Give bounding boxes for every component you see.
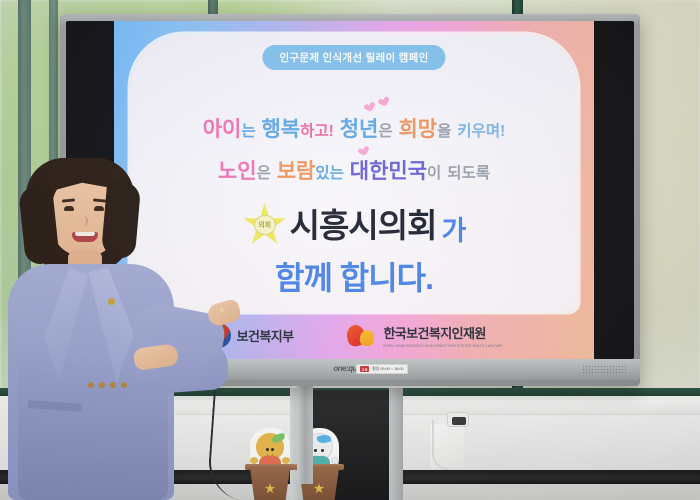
eye <box>64 206 74 211</box>
lapel-pin <box>108 298 115 305</box>
slogan-line-1: 아이는 행복하고! 청년은 희망을 키우며! <box>114 113 594 143</box>
logo-kohi: 한국보건복지인재원 KOREA HUMAN RESOURCE DEVELOPME… <box>347 323 502 347</box>
stand-column-right <box>389 388 403 500</box>
presenter <box>0 160 227 500</box>
slogan-token: 이 <box>427 161 441 183</box>
logo-sublabel: KOREA HUMAN RESOURCE DEVELOPMENT INSTITU… <box>383 343 502 348</box>
slogan-token: 행복 <box>261 113 300 143</box>
slogan-token: 희망 <box>398 113 437 143</box>
emblem-inner-label: 의회 <box>254 215 276 235</box>
list-item <box>247 428 293 500</box>
mascot-arm <box>282 457 290 464</box>
eye-icon <box>314 449 317 452</box>
slogan-token: 하고! <box>300 119 334 141</box>
mascot-arm <box>331 457 339 464</box>
schedule-text: 평일 09:00 ~ 18:00 <box>372 367 403 372</box>
slogan-token: 은 <box>378 119 392 141</box>
logo-label: 보건복지부 <box>237 326 294 345</box>
drop-shape <box>359 329 375 347</box>
eye <box>94 206 104 211</box>
star-emblem-icon <box>314 483 325 494</box>
council-star-emblem-icon: 의회 <box>243 203 287 247</box>
slogan-token: 는 <box>241 119 255 141</box>
hair-tuft-icon <box>316 434 331 445</box>
campaign-badge: 인구문제 인식개선 릴레이 캠페인 <box>262 45 445 70</box>
logo-label: 한국보건복지인재원 <box>383 323 502 342</box>
stand-neck <box>297 386 313 484</box>
page-title: 시흥시의회 <box>290 209 437 242</box>
slogan-token: 청년 <box>340 113 379 143</box>
finger-ring <box>220 308 224 312</box>
star-emblem-icon <box>265 483 276 494</box>
eye-icon <box>266 448 269 451</box>
slogan-token: 은 <box>257 161 271 183</box>
slogan-token: 보람 <box>277 155 316 185</box>
photo-scene: 인구문제 인식개선 릴레이 캠페인 아이는 행복하고! 청년은 희망을 키우며!… <box>0 0 700 500</box>
title-particle: 가 <box>441 218 465 247</box>
sleeve-buttons <box>88 382 127 388</box>
two-drops-icon <box>347 323 377 347</box>
eye-icon <box>321 449 324 452</box>
status-badge: 교육 <box>360 366 369 372</box>
logo-text-group: 한국보건복지인재원 KOREA HUMAN RESOURCE DEVELOPME… <box>383 323 502 347</box>
slogan-token: 있는 <box>315 161 344 183</box>
schedule-label-sticker: 교육 평일 09:00 ~ 18:00 <box>356 364 408 374</box>
mouth <box>72 232 98 242</box>
slogan-token: 키우며! <box>457 119 505 141</box>
speaker-grille-icon <box>582 365 626 375</box>
slogan-token: 되도록 <box>447 161 490 183</box>
slogan-token: 대한민국 <box>350 155 427 185</box>
wall-power-outlet <box>447 412 469 427</box>
mascot-arm <box>250 457 258 464</box>
podium <box>247 466 293 500</box>
hair-side <box>101 181 141 260</box>
power-cord <box>432 420 448 470</box>
slogan-token: 아이 <box>203 113 242 143</box>
eye-icon <box>271 448 274 451</box>
slogan-token: 을 <box>437 119 451 141</box>
